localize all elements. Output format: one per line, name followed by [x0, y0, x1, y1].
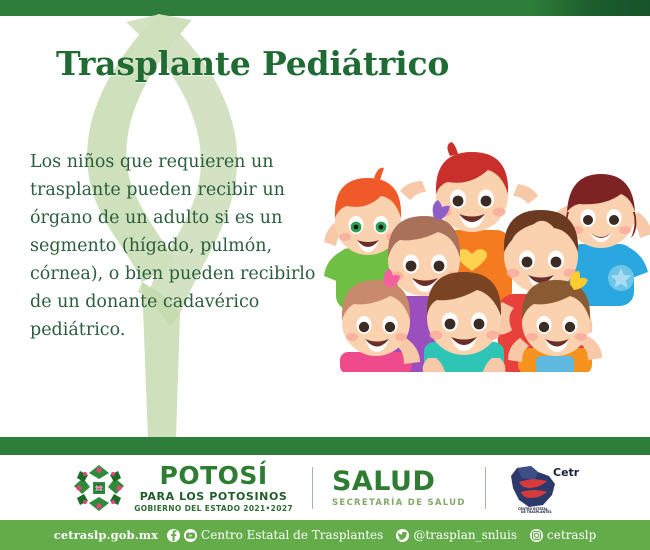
- poster-title: Trasplante Pediátrico: [56, 44, 449, 83]
- salud-subtitle: SECRETARÍA DE SALUD: [332, 499, 466, 508]
- footer-bar: cetraslp.gob.mx Centro Estatal de Traspl…: [0, 520, 650, 550]
- children-illustration: [322, 126, 650, 376]
- instagram-icon[interactable]: [530, 529, 543, 542]
- facebook-icon[interactable]: [167, 529, 180, 542]
- cetra-wordmark: Cetra: [553, 466, 579, 479]
- youtube-icon[interactable]: [184, 529, 197, 542]
- twitter-group[interactable]: [396, 529, 413, 542]
- cetra-logo: Cetra CENTRO ESTATAL DE TRASPLANTES: [505, 462, 579, 514]
- twitter-handle[interactable]: @trasplan_snluis: [413, 528, 517, 542]
- bottom-decorative-band: [0, 437, 650, 455]
- facebook-page-name[interactable]: Centro Estatal de Trasplantes: [201, 528, 383, 542]
- logo-divider-1: [312, 467, 313, 509]
- potosi-logo: POTOSÍ PARA LOS POTOSINOS GOBIERNO DEL E…: [71, 462, 293, 514]
- poster-canvas: Trasplante Pediátrico Los niños que requ…: [0, 0, 650, 550]
- logo-strip: POTOSÍ PARA LOS POTOSINOS GOBIERNO DEL E…: [0, 455, 650, 520]
- logo-divider-2: [485, 467, 486, 509]
- child-7: [423, 272, 506, 374]
- instagram-group[interactable]: [530, 529, 547, 542]
- salud-logo: SALUD SECRETARÍA DE SALUD: [332, 468, 466, 508]
- facebook-group[interactable]: [167, 529, 201, 542]
- potosi-tagline: PARA LOS POTOSINOS: [140, 491, 288, 502]
- instagram-handle[interactable]: cetraslp: [547, 528, 596, 542]
- svg-text:DE TRASPLANTES: DE TRASPLANTES: [521, 510, 552, 514]
- potosi-wordmark: POTOSÍ: [160, 463, 268, 488]
- poster-body-text: Los niños que requieren un trasplante pu…: [30, 148, 330, 344]
- twitter-icon[interactable]: [396, 529, 409, 542]
- website-link[interactable]: cetraslp.gob.mx: [54, 528, 158, 542]
- salud-wordmark: SALUD: [332, 468, 435, 495]
- cetra-map-icon: Cetra CENTRO ESTATAL DE TRASPLANTES: [505, 462, 579, 514]
- huichol-floral-motif-icon: [71, 462, 127, 514]
- potosi-period: GOBIERNO DEL ESTADO 2021•2027: [134, 505, 293, 513]
